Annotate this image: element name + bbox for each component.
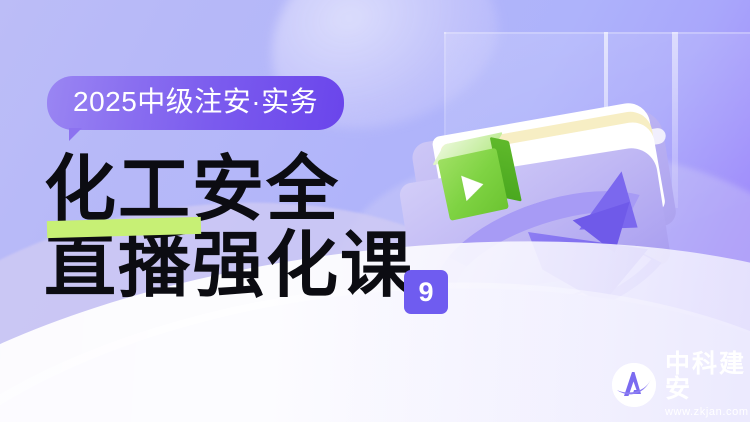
brand-name: 中科建安	[665, 352, 750, 402]
panel-top-line-decor	[444, 32, 750, 34]
headline-line-2: 直播强化课	[44, 228, 414, 304]
pill-tail-decor	[69, 128, 82, 141]
brand-url: www.zkjan.com	[665, 407, 750, 418]
zkjan-logo-icon	[612, 363, 656, 407]
play-cube-icon	[430, 128, 528, 227]
course-category-label: 2025中级注安·实务	[73, 86, 318, 117]
brand-logo-text: 中科建安 www.zkjan.com	[665, 352, 750, 418]
headline-line-1: 化工安全	[44, 152, 414, 228]
course-promo-banner: 2025中级注安·实务 化工安全 直播强化课 9 中科建安 www.zkjan.…	[0, 0, 750, 422]
episode-number-badge: 9	[404, 270, 448, 314]
brand-logo: 中科建安 www.zkjan.com	[612, 352, 750, 418]
course-category-pill: 2025中级注安·实务	[47, 76, 344, 130]
course-category-pill-wrap: 2025中级注安·实务	[47, 76, 344, 130]
